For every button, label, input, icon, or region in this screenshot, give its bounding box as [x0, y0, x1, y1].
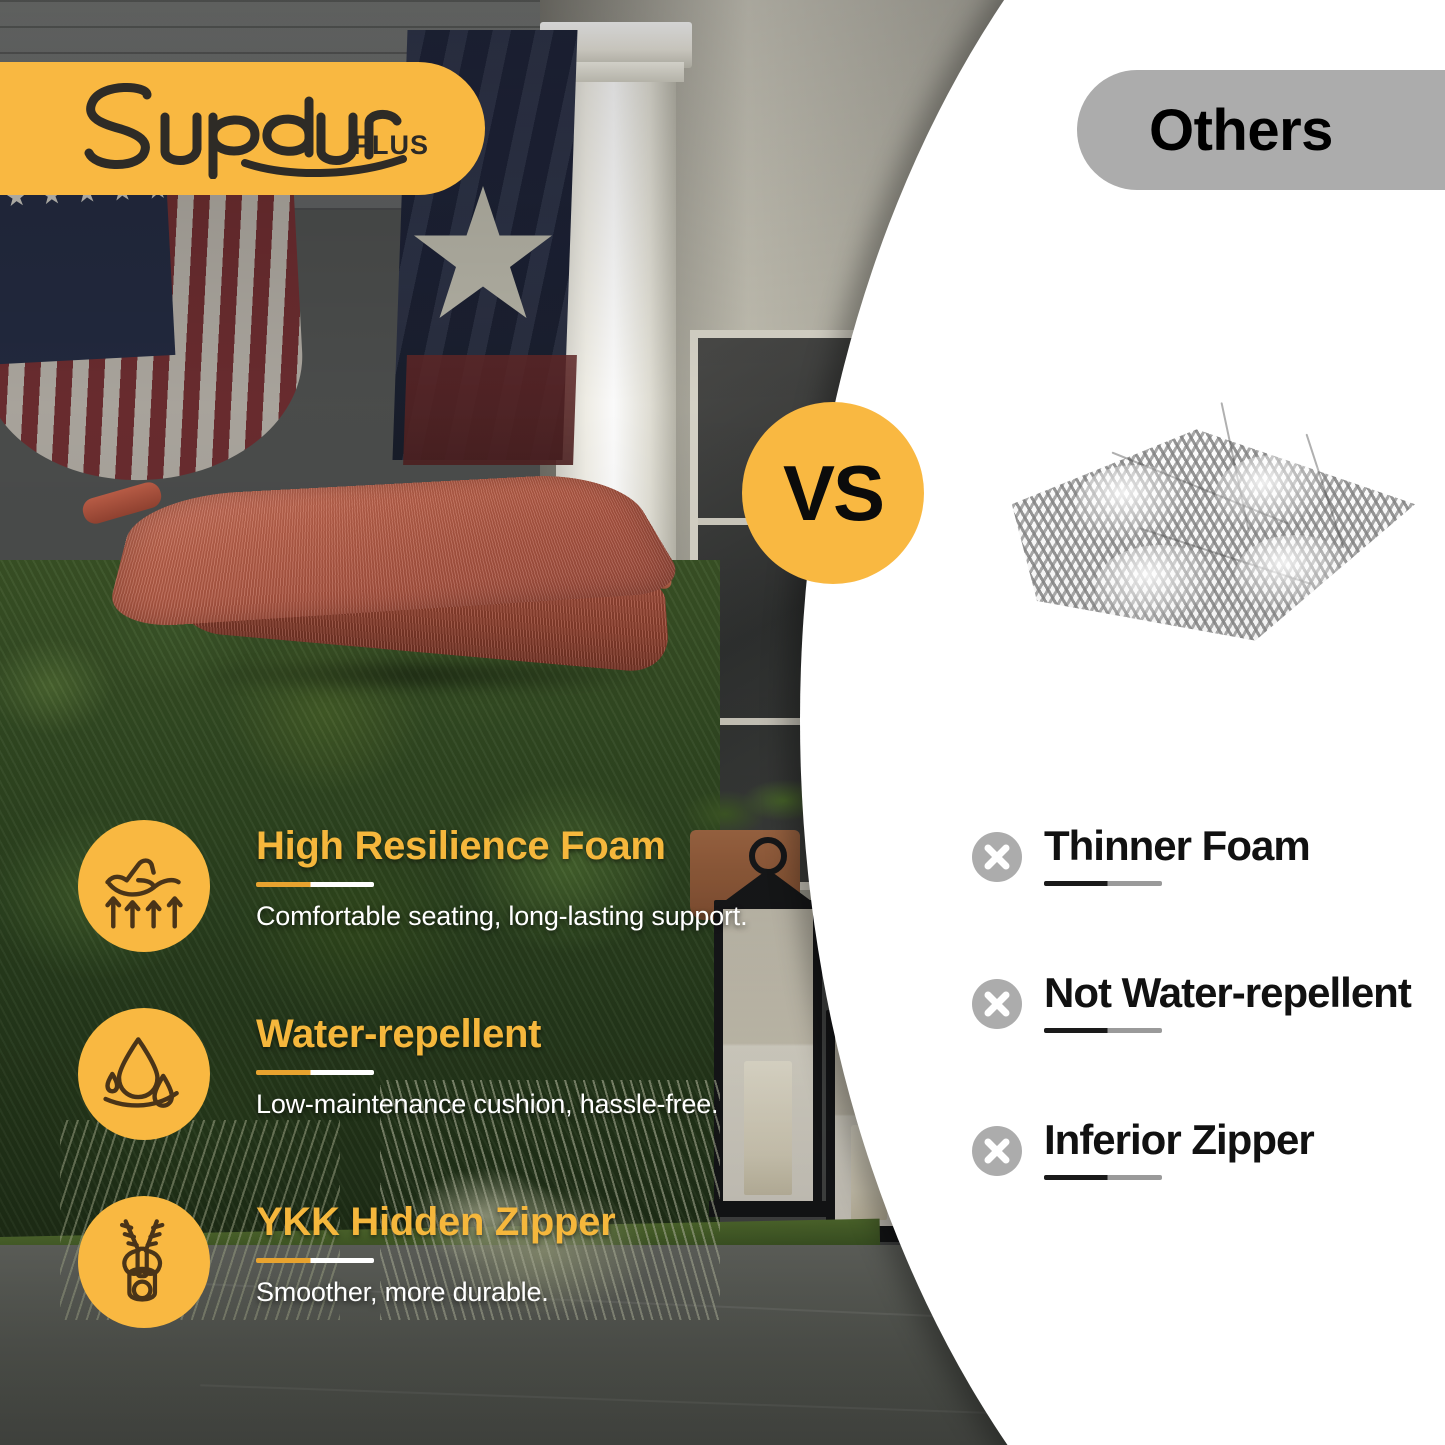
feature-text: Water-repellent Low-maintenance cushion,…	[256, 1012, 776, 1120]
zipper-icon	[78, 1196, 210, 1328]
vs-label: VS	[783, 448, 883, 539]
con-item: Thinner Foam	[972, 826, 1442, 932]
brand-wordmark: PLUS	[73, 79, 423, 179]
con-item: Inferior Zipper	[972, 1120, 1442, 1226]
feature-subtitle: Low-maintenance cushion, hassle-free.	[256, 1089, 776, 1120]
water-droplet-repel-icon	[78, 1008, 210, 1140]
circle-x-icon	[972, 832, 1022, 882]
feature-subtitle: Smoother, more durable.	[256, 1277, 776, 1308]
circle-x-icon	[972, 1126, 1022, 1176]
cushion-tuft	[1215, 455, 1335, 535]
feature-divider	[256, 1258, 374, 1263]
con-text: Not Water-repellent	[1044, 969, 1411, 1033]
vs-badge: VS	[742, 402, 924, 584]
brand-suffix: PLUS	[353, 130, 429, 161]
feature-text: High Resilience Foam Comfortable seating…	[256, 824, 776, 932]
feature-title: Water-repellent	[256, 1012, 776, 1056]
others-header-pill: Others	[1077, 70, 1445, 190]
feature-item: Water-repellent Low-maintenance cushion,…	[78, 1006, 778, 1156]
feature-divider	[256, 882, 374, 887]
feature-list: High Resilience Foam Comfortable seating…	[78, 818, 778, 1382]
competitor-cushion-image	[985, 395, 1435, 685]
feature-text: YKK Hidden Zipper Smoother, more durable…	[256, 1200, 776, 1308]
con-text: Inferior Zipper	[1044, 1116, 1314, 1180]
cushion-tuft	[1235, 535, 1355, 615]
con-divider	[1044, 1028, 1162, 1033]
con-title: Inferior Zipper	[1044, 1116, 1314, 1164]
con-item: Not Water-repellent	[972, 973, 1442, 1079]
circle-x-icon	[972, 979, 1022, 1029]
feature-divider	[256, 1070, 374, 1075]
brand-logo-pill: PLUS	[0, 62, 485, 195]
feature-item: YKK Hidden Zipper Smoother, more durable…	[78, 1194, 778, 1344]
cushion-tuft	[1075, 465, 1195, 545]
others-label: Others	[1149, 97, 1333, 164]
supdur-logo-icon	[73, 79, 423, 179]
product-cushion-image	[80, 355, 730, 715]
con-title: Thinner Foam	[1044, 822, 1310, 870]
con-text: Thinner Foam	[1044, 822, 1310, 886]
body-support-arrows-icon	[78, 820, 210, 952]
feature-title: High Resilience Foam	[256, 824, 776, 868]
con-divider	[1044, 1175, 1162, 1180]
cushion-tuft	[1095, 545, 1225, 630]
con-divider	[1044, 881, 1162, 886]
con-title: Not Water-repellent	[1044, 969, 1411, 1017]
infographic-canvas: ★★★★★★★★★★★★★★★★★★★★★★★★★	[0, 0, 1445, 1445]
feature-item: High Resilience Foam Comfortable seating…	[78, 818, 778, 968]
cons-list: Thinner Foam Not Water-repellent	[972, 826, 1442, 1267]
feature-subtitle: Comfortable seating, long-lasting suppor…	[256, 901, 776, 932]
feature-title: YKK Hidden Zipper	[256, 1200, 776, 1244]
